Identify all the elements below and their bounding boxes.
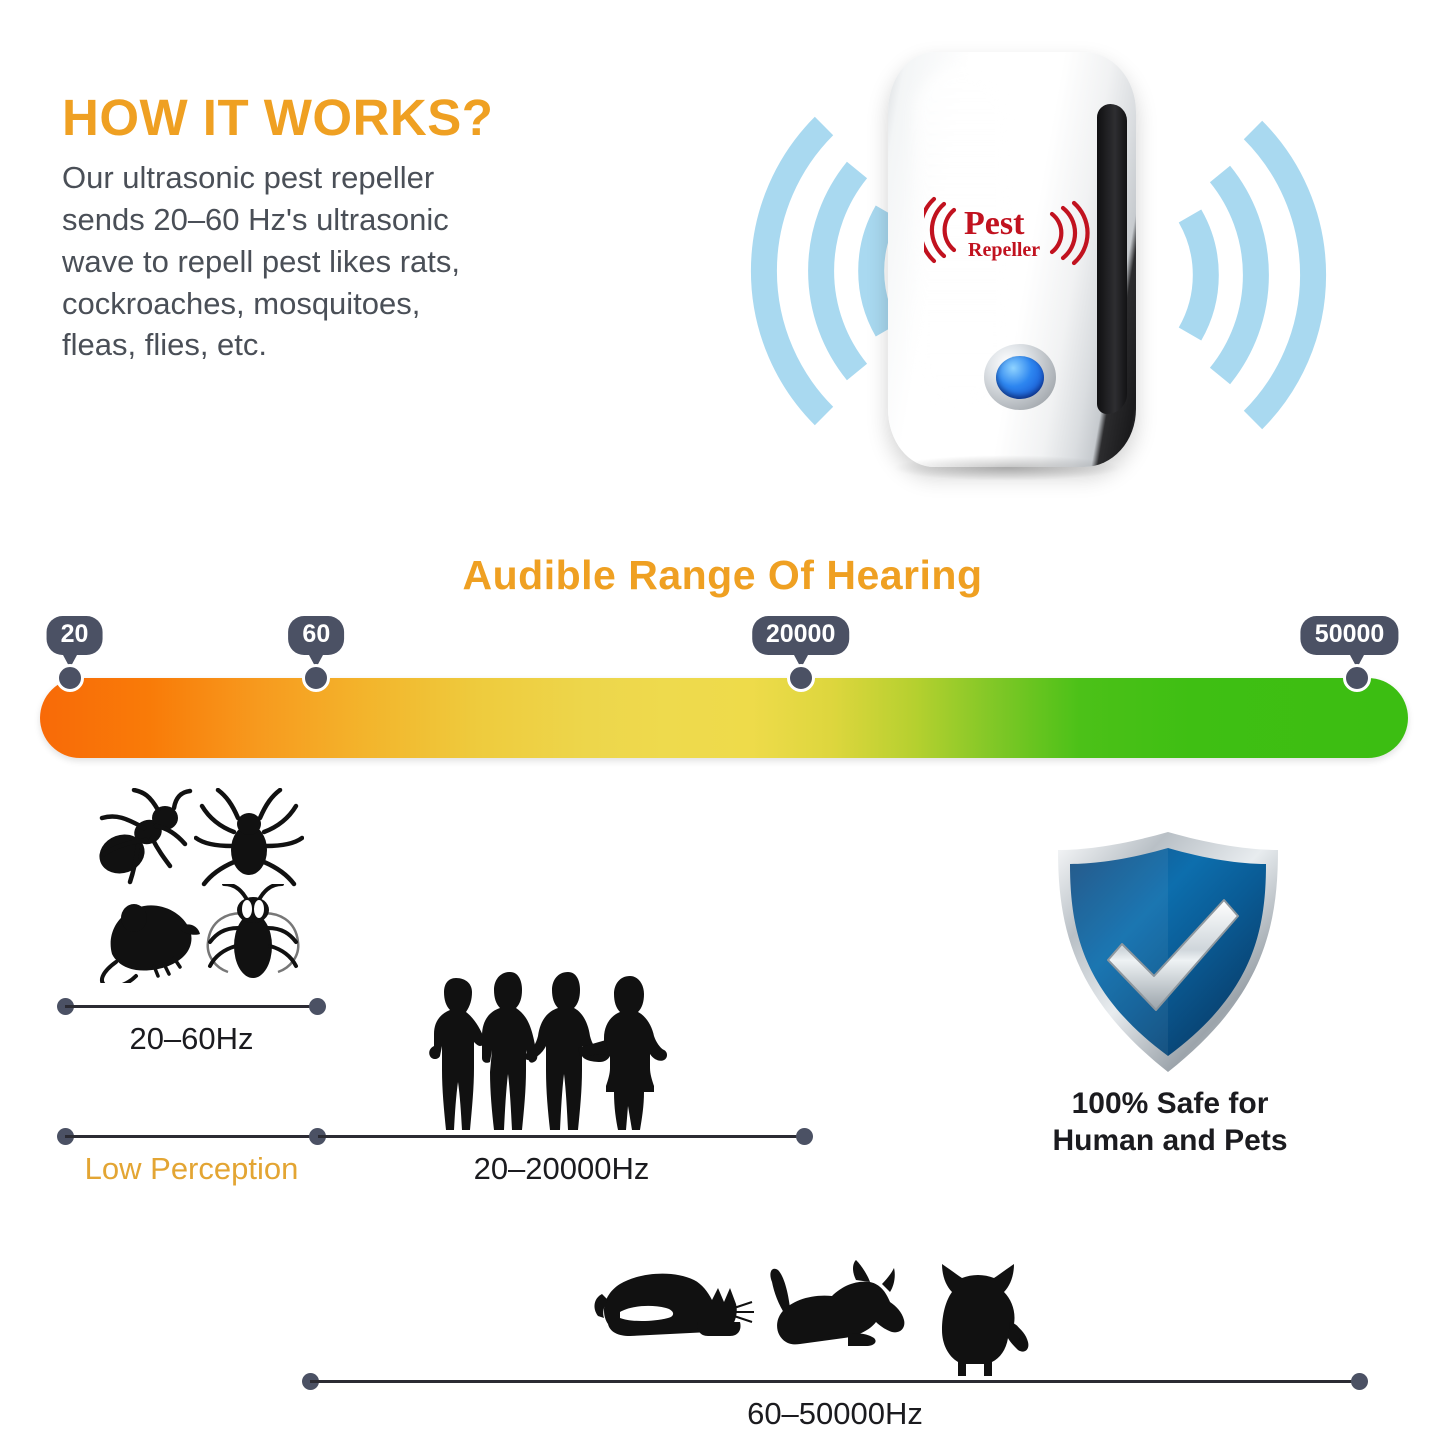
device-side-panel bbox=[1097, 104, 1127, 414]
woman-silhouette-icon bbox=[429, 978, 485, 1130]
device-drop-shadow bbox=[892, 455, 1122, 481]
spider-icon bbox=[194, 788, 304, 888]
range-line bbox=[310, 1380, 1360, 1383]
spectrum-marker-label: 60 bbox=[288, 616, 344, 655]
spectrum-marker-label: 20000 bbox=[752, 616, 850, 655]
cat-standing-icon bbox=[942, 1264, 1028, 1376]
range-label-low-perception: Low Perception bbox=[65, 1151, 318, 1187]
range-label-pets: 60–50000Hz bbox=[310, 1396, 1360, 1432]
range-label-human: 20–20000Hz bbox=[318, 1151, 805, 1187]
human-silhouettes-group bbox=[428, 950, 678, 1135]
range-bar-pests: 20–60Hz bbox=[65, 995, 318, 1019]
device-led-button[interactable] bbox=[984, 344, 1056, 410]
infographic-page: HOW IT WORKS? Our ultrasonic pest repell… bbox=[0, 0, 1445, 1445]
how-it-works-block: HOW IT WORKS? Our ultrasonic pest repell… bbox=[62, 92, 662, 366]
range-line bbox=[65, 1135, 318, 1138]
pest-repeller-logo-icon: Pest Repeller bbox=[924, 194, 1094, 266]
range-endpoint-right bbox=[1351, 1373, 1368, 1390]
range-endpoint-right bbox=[309, 998, 326, 1015]
range-endpoint-right bbox=[796, 1128, 813, 1145]
ant-icon bbox=[86, 788, 196, 888]
range-line bbox=[318, 1135, 805, 1138]
audible-range-title: Audible Range Of Hearing bbox=[0, 552, 1445, 599]
range-label-pests: 20–60Hz bbox=[65, 1021, 318, 1057]
svg-text:Pest: Pest bbox=[964, 205, 1025, 242]
pest-icons-group bbox=[86, 788, 316, 983]
man-silhouette-icon bbox=[482, 972, 537, 1130]
spectrum-gradient-bar bbox=[40, 678, 1408, 758]
device-led-glow bbox=[996, 356, 1044, 399]
page-title: HOW IT WORKS? bbox=[62, 92, 662, 143]
range-bar-pets: 60–50000Hz bbox=[310, 1370, 1360, 1394]
cat-eating-icon bbox=[595, 1274, 754, 1336]
spectrum-marker-dot bbox=[56, 664, 84, 692]
pest-repeller-device: Pest Repeller bbox=[888, 52, 1136, 467]
how-it-works-description: Our ultrasonic pest repeller sends 20–60… bbox=[62, 157, 662, 366]
safety-shield-icon bbox=[1048, 828, 1288, 1078]
range-line bbox=[65, 1005, 318, 1008]
spectrum-marker-label: 20 bbox=[47, 616, 103, 655]
range-bar-human: 20–20000Hz bbox=[318, 1125, 805, 1149]
spectrum-marker-label: 50000 bbox=[1301, 616, 1399, 655]
spectrum-marker-dot bbox=[1343, 664, 1371, 692]
spectrum-marker-dot bbox=[302, 664, 330, 692]
range-bar-low-perception: Low Perception bbox=[65, 1125, 318, 1149]
mouse-icon bbox=[94, 888, 212, 983]
pet-silhouettes-group bbox=[590, 1250, 1030, 1380]
dog-lying-icon bbox=[770, 1260, 904, 1346]
woman2-silhouette-icon bbox=[578, 976, 667, 1130]
cockroach-icon bbox=[198, 884, 308, 984]
sound-wave-right-icon bbox=[1175, 100, 1415, 455]
sound-wave-left-icon bbox=[662, 96, 902, 451]
svg-text:Repeller: Repeller bbox=[968, 239, 1040, 261]
safety-caption: 100% Safe for Human and Pets bbox=[1010, 1086, 1330, 1159]
spectrum-scale: 20 60 20000 50000 bbox=[40, 616, 1408, 766]
spectrum-marker-dot bbox=[787, 664, 815, 692]
